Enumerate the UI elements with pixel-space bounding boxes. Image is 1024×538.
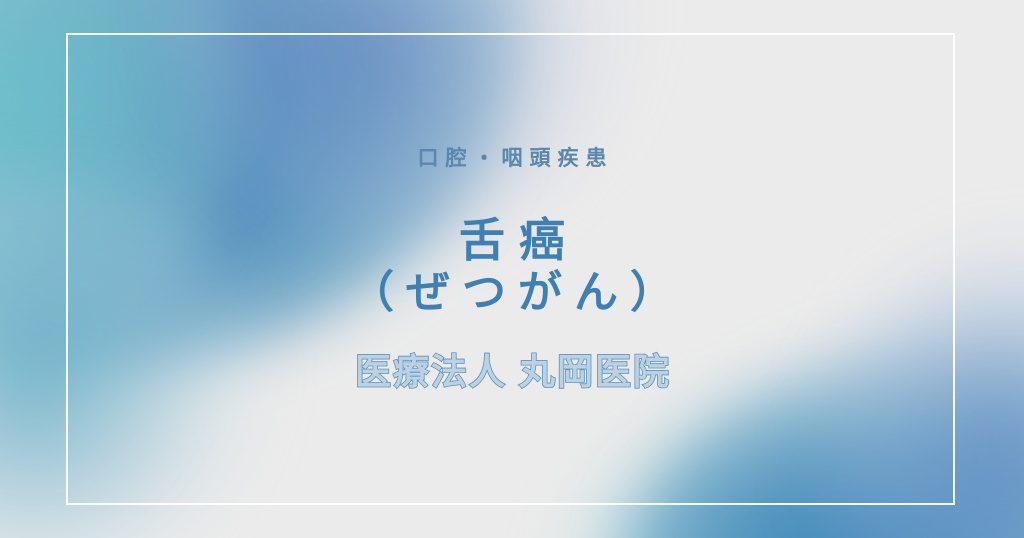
slide-content: 口腔・咽頭疾患 舌癌 （ぜつがん） 医療法人 丸岡医院 <box>0 0 1024 538</box>
page-title-reading: （ぜつがん） <box>338 266 686 320</box>
clinic-name: 医療法人 丸岡医院 <box>353 354 671 390</box>
title-slide: 口腔・咽頭疾患 舌癌 （ぜつがん） 医療法人 丸岡医院 <box>0 0 1024 538</box>
page-title: 舌癌 <box>445 215 579 267</box>
category-label: 口腔・咽頭疾患 <box>411 148 614 169</box>
